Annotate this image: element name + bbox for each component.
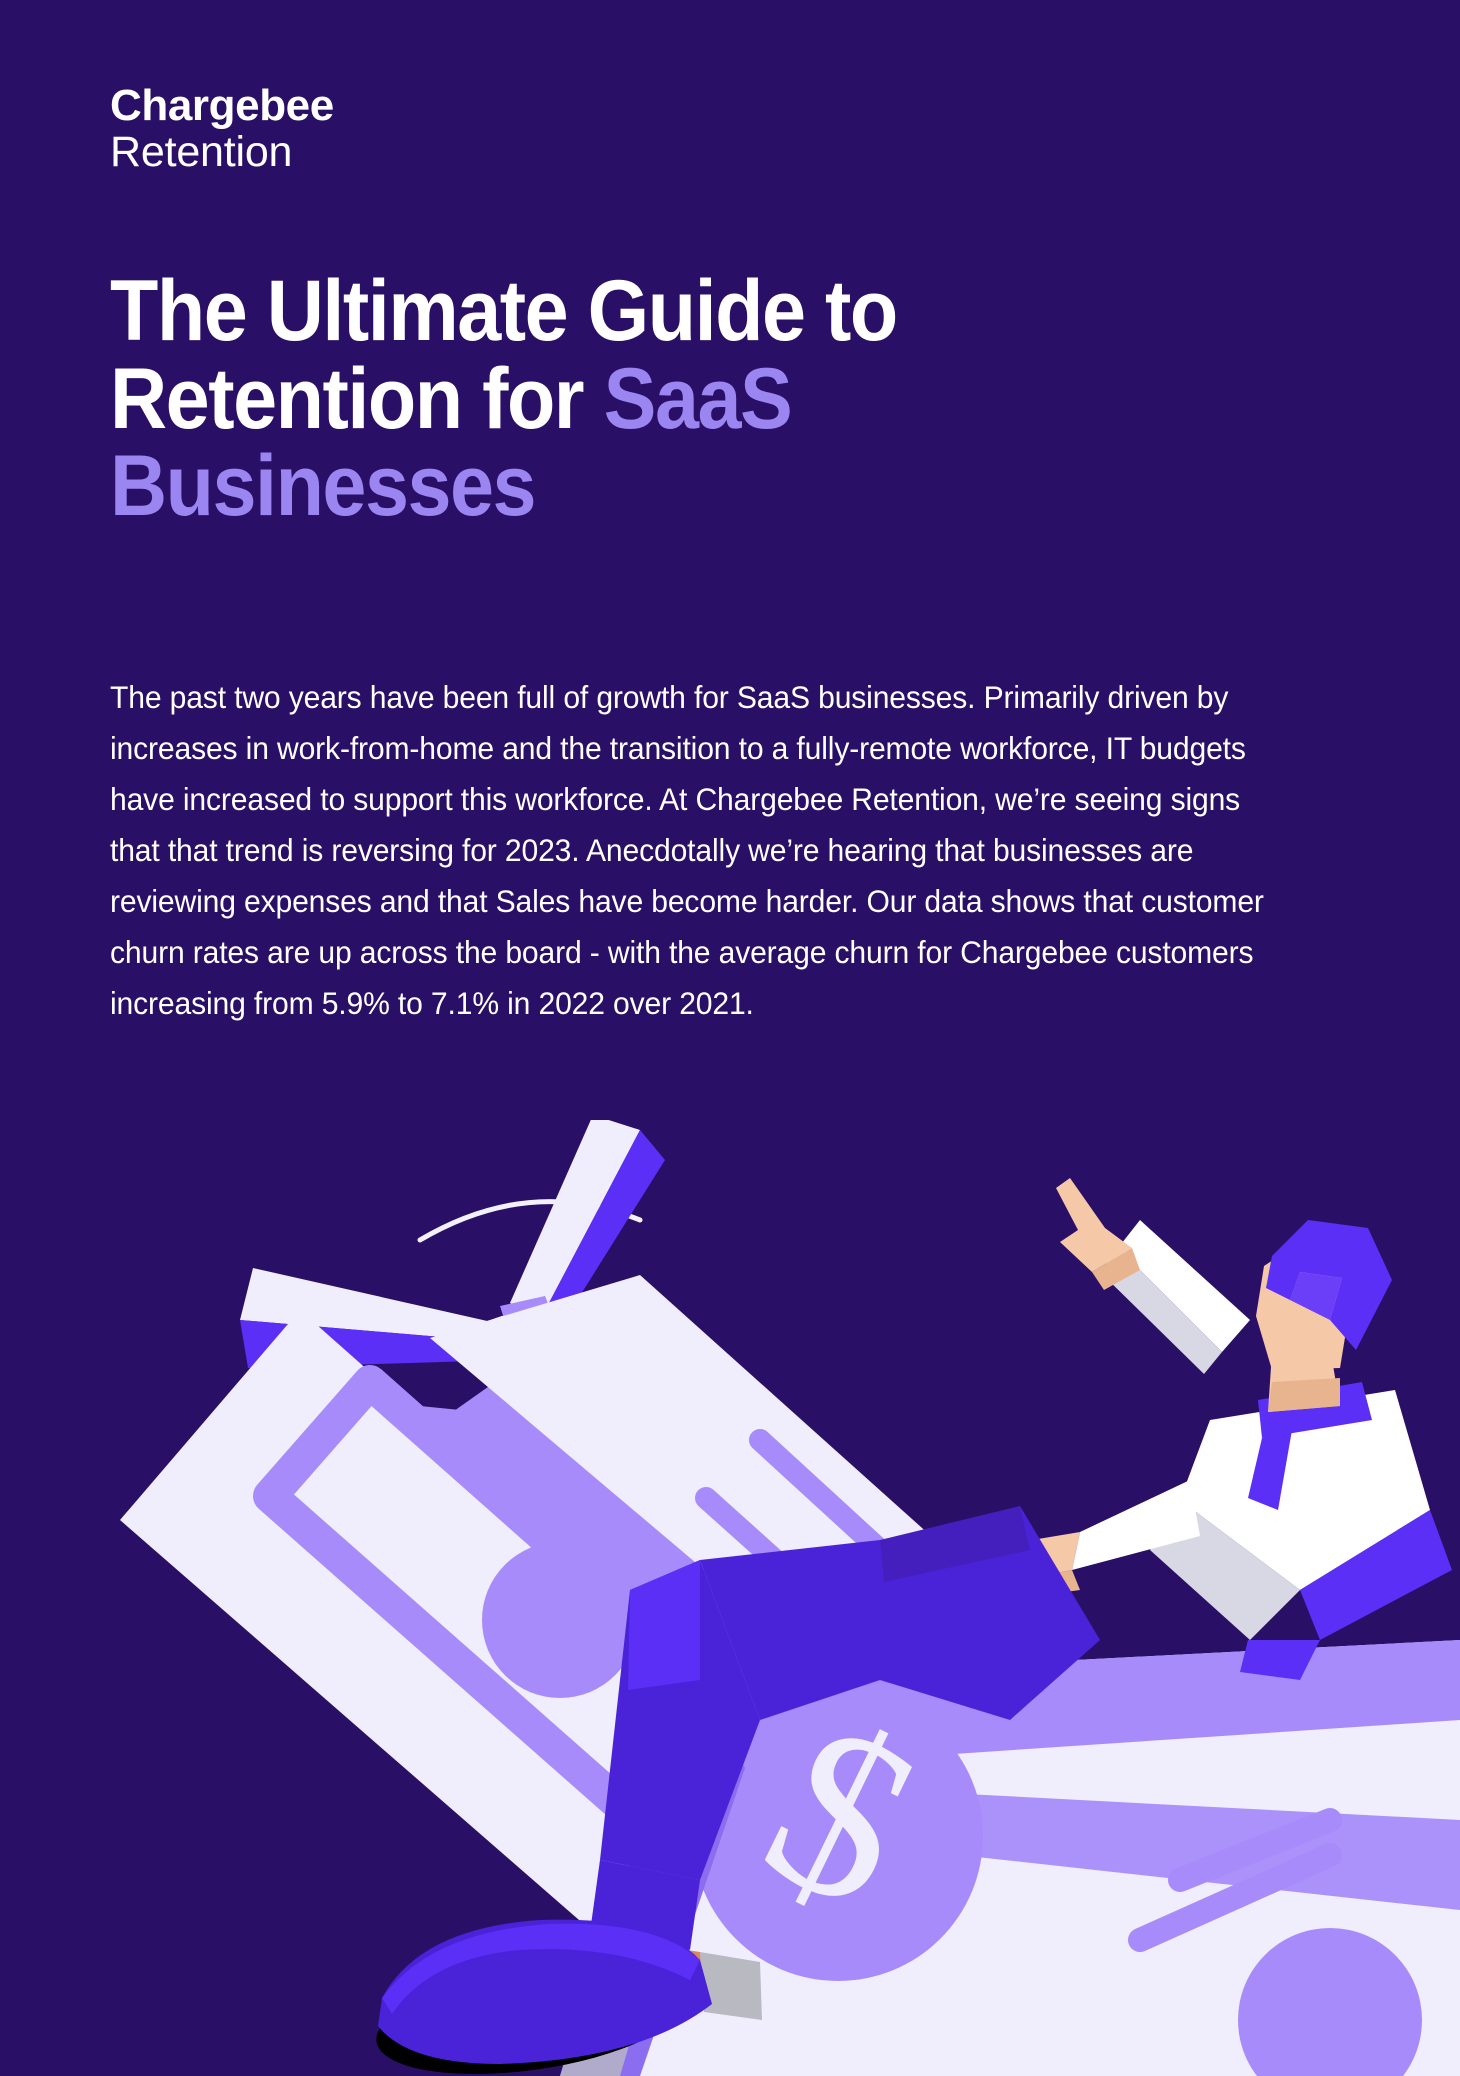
- intro-paragraph: The past two years have been full of gro…: [110, 672, 1280, 1029]
- logo-product-text: Retention: [110, 129, 334, 175]
- sock: [700, 1952, 762, 2020]
- page-title: The Ultimate Guide to Retention for SaaS…: [110, 268, 1039, 531]
- hero-illustration: $: [0, 1120, 1460, 2076]
- chargebee-retention-logo: Chargebee Retention: [110, 82, 334, 175]
- logo-brand-text: Chargebee: [110, 82, 334, 129]
- cover-page: Chargebee Retention The Ultimate Guide t…: [0, 0, 1460, 2076]
- banknote-medallion: [482, 1542, 638, 1698]
